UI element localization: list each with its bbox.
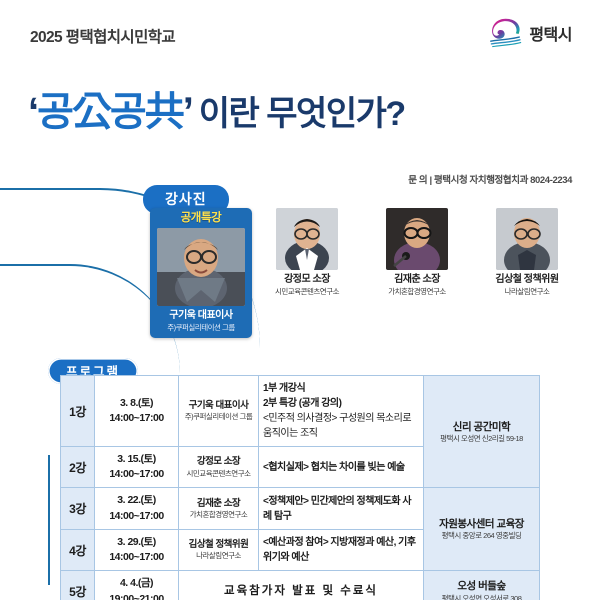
- row-venue: 신리 공간미학 평택시 오성면 신2리길 59-18: [424, 376, 540, 488]
- lecturer-portrait: [276, 208, 338, 270]
- row-venue-address: 평택시 오성면 오성서로 308: [428, 594, 535, 600]
- row-instructor: 강정모 소장 시민교육콘텐츠연구소: [179, 447, 259, 488]
- lecturer-name: 강정모 소장: [252, 274, 362, 286]
- page-kicker: 2025 평택협치시민학교: [30, 25, 175, 47]
- row-venue: 오성 버들숲 평택시 오성면 오성서로 308: [424, 571, 540, 600]
- title-rest: 이란 무엇인가?: [199, 95, 405, 133]
- portrait-photo-4: [496, 208, 558, 270]
- page-title: ‘공公공共’ 이란 무엇인가?: [28, 92, 405, 132]
- row-number: 4강: [61, 529, 95, 570]
- row-topic: <예산과정 참여> 지방재정과 예산, 기후위기와 예산: [259, 529, 424, 570]
- row-topic-line2: <예산과정 참여> 지방재정과 예산, 기후위기와 예산: [263, 535, 419, 565]
- lecturer-card-2: 강정모 소장 시민교육콘텐츠연구소: [252, 208, 362, 297]
- row-instructor-org: 가치혼합경영연구소: [183, 510, 254, 520]
- lecturer-card-1: 공개특강 구기욱 대표이사 주)쿠퍼실리테이션 그룹: [150, 208, 252, 338]
- row-topic: 교육참가자 발표 및 수료식: [179, 571, 424, 600]
- row-time: 14:00~17:00: [99, 411, 174, 426]
- lecturer-org: 주)쿠퍼실리테이션 그룹: [155, 323, 247, 333]
- row-topic-line1: 1부 개강식: [263, 381, 419, 396]
- portrait-photo-3: [386, 208, 448, 270]
- row-date: 3. 15.(토): [99, 452, 174, 467]
- brand-logo-text: 평택시: [529, 21, 572, 45]
- lecturers-row: 공개특강 구기욱 대표이사 주)쿠퍼실리테이션 그룹: [150, 208, 590, 338]
- lecturer-name: 김재춘 소장: [362, 274, 472, 286]
- row-datetime: 3. 29.(토) 14:00~17:00: [95, 529, 179, 570]
- row-date: 4. 4.(금): [99, 576, 174, 591]
- row-topic: <정책제안> 민간제안의 정책제도화 사례 탐구: [259, 488, 424, 529]
- row-datetime: 4. 4.(금) 19:00~21:00: [95, 571, 179, 600]
- row-instructor-org: 나라살림연구소: [183, 551, 254, 561]
- row-instructor-name: 강정모 소장: [183, 456, 254, 468]
- portrait-photo-1: [157, 228, 245, 306]
- lecturer-name: 구기욱 대표이사: [155, 310, 247, 322]
- row-time: 14:00~17:00: [99, 509, 174, 524]
- row-datetime: 3. 22.(토) 14:00~17:00: [95, 488, 179, 529]
- row-time: 19:00~21:00: [99, 592, 174, 600]
- table-row: 3강 3. 22.(토) 14:00~17:00 김재춘 소장 가치혼합경영연구…: [61, 488, 540, 529]
- row-datetime: 3. 8.(토) 14:00~17:00: [95, 376, 179, 447]
- row-instructor: 김재춘 소장 가치혼합경영연구소: [179, 488, 259, 529]
- lecturer-card-4: 김상철 정책위원 나라살림연구소: [472, 208, 582, 297]
- brand-logo: 평택시: [488, 16, 572, 50]
- row-number: 3강: [61, 488, 95, 529]
- table-row: 5강 4. 4.(금) 19:00~21:00 교육참가자 발표 및 수료식 오…: [61, 571, 540, 600]
- row-instructor: 김상철 정책위원 나라살림연구소: [179, 529, 259, 570]
- row-topic-line2: <협치실제> 협치는 차이를 빚는 예술: [263, 460, 419, 475]
- row-time: 14:00~17:00: [99, 467, 174, 482]
- row-venue-name: 신리 공간미학: [428, 420, 535, 434]
- row-instructor: 구기욱 대표이사 주)쿠퍼실리테이션 그룹: [179, 376, 259, 447]
- row-venue-address: 평택시 중앙로 264 영중빌딩: [428, 531, 535, 541]
- row-date: 3. 8.(토): [99, 396, 174, 411]
- lecturer-portrait: [157, 228, 245, 306]
- row-venue: 자원봉사센터 교육장 평택시 중앙로 264 영중빌딩: [424, 488, 540, 571]
- row-topic-line2: 2부 특강 (공개 강의): [263, 396, 419, 411]
- portrait-photo-2: [276, 208, 338, 270]
- row-topic-line2: <정책제안> 민간제안의 정책제도화 사례 탐구: [263, 494, 419, 524]
- row-venue-name: 자원봉사센터 교육장: [428, 517, 535, 531]
- title-quote-open: ‘: [28, 90, 37, 134]
- decorative-vertical-line: [48, 455, 50, 585]
- row-datetime: 3. 15.(토) 14:00~17:00: [95, 447, 179, 488]
- row-date: 3. 29.(토): [99, 535, 174, 550]
- lecturer-portrait: [386, 208, 448, 270]
- lecturer-org: 가치혼합경영연구소: [362, 287, 472, 297]
- table-row: 1강 3. 8.(토) 14:00~17:00 구기욱 대표이사 주)쿠퍼실리테…: [61, 376, 540, 447]
- pyeongtaek-city-logo-icon: [488, 16, 522, 50]
- row-time: 14:00~17:00: [99, 550, 174, 565]
- row-topic: 1부 개강식 2부 특강 (공개 강의) <민주적 의사결정> 구성원의 목소리…: [259, 376, 424, 447]
- row-number: 1강: [61, 376, 95, 447]
- row-instructor-name: 김재춘 소장: [183, 498, 254, 510]
- contact-info: 문 의 | 평택시청 자치행정협치과 8024-2234: [408, 172, 572, 186]
- lecturer-name: 김상철 정책위원: [472, 274, 582, 286]
- lecturer-special-tag: 공개특강: [155, 211, 247, 226]
- row-date: 3. 22.(토): [99, 493, 174, 508]
- row-instructor-org: 주)쿠퍼실리테이션 그룹: [183, 412, 254, 422]
- row-instructor-name: 구기욱 대표이사: [183, 400, 254, 412]
- poster-canvas: 2025 평택협치시민학교 평택시 ‘공公공共’ 이란 무엇인가? 문 의 | …: [0, 0, 600, 600]
- lecturer-org: 시민교육콘텐츠연구소: [252, 287, 362, 297]
- title-quote-close: ’: [183, 90, 191, 134]
- lecturer-portrait: [496, 208, 558, 270]
- row-instructor-name: 김상철 정책위원: [183, 539, 254, 551]
- row-topic-line3: <민주적 의사결정> 구성원의 목소리로 움직이는 조직: [263, 411, 419, 441]
- lecturer-org: 나라살림연구소: [472, 287, 582, 297]
- title-highlight: 공公공共: [37, 90, 183, 134]
- lecturer-card-3: 김재춘 소장 가치혼합경영연구소: [362, 208, 472, 297]
- program-table-body: 1강 3. 8.(토) 14:00~17:00 구기욱 대표이사 주)쿠퍼실리테…: [61, 376, 540, 600]
- row-venue-address: 평택시 오성면 신2리길 59-18: [428, 434, 535, 444]
- row-instructor-org: 시민교육콘텐츠연구소: [183, 469, 254, 479]
- program-table: 1강 3. 8.(토) 14:00~17:00 구기욱 대표이사 주)쿠퍼실리테…: [60, 375, 540, 600]
- row-number: 5강: [61, 571, 95, 600]
- row-number: 2강: [61, 447, 95, 488]
- row-topic: <협치실제> 협치는 차이를 빚는 예술: [259, 447, 424, 488]
- row-venue-name: 오성 버들숲: [428, 579, 535, 593]
